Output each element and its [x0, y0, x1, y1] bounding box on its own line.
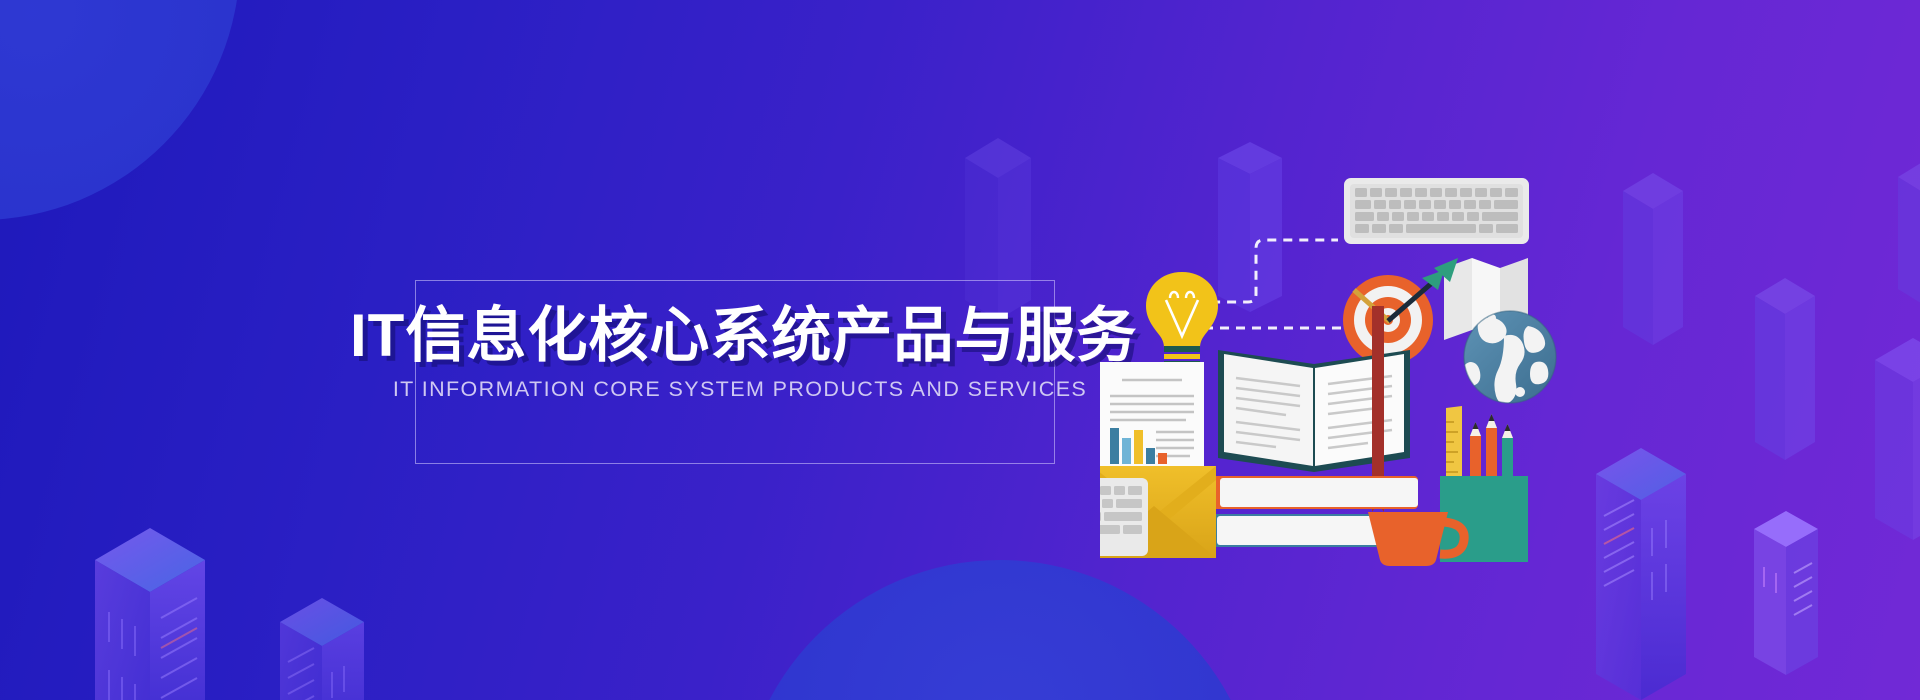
pencil-holder-icon	[1440, 406, 1528, 562]
decorative-tower-right-faint-b	[1755, 270, 1865, 460]
illustration-backdrop-tower	[1218, 142, 1282, 312]
decorative-tower-right-faint-a	[1623, 165, 1733, 345]
decorative-tower-left-large	[95, 520, 325, 700]
decorative-tower-right-tall	[1596, 440, 1766, 700]
decorative-tower-right-small	[1754, 505, 1874, 675]
decorative-tower-left-small	[280, 590, 455, 700]
page-subtitle: IT INFORMATION CORE SYSTEM PRODUCTS AND …	[350, 377, 1130, 402]
hero-banner: IT信息化核心系统产品与服务 IT INFORMATION CORE SYSTE…	[0, 0, 1920, 700]
page-title: IT信息化核心系统产品与服务	[350, 305, 1130, 367]
decorative-tower-right-edge-top	[1898, 155, 1920, 305]
keyboard-left	[1100, 478, 1148, 556]
keyboard-top	[1344, 178, 1529, 244]
target-with-arrow-icon	[1343, 258, 1458, 365]
decorative-circle-top-left	[0, 0, 240, 220]
globe-icon	[1462, 311, 1556, 404]
headline-block: IT信息化核心系统产品与服务 IT INFORMATION CORE SYSTE…	[350, 305, 1130, 402]
decorative-tower-right-edge	[1875, 330, 1920, 540]
it-knowledge-illustration	[1100, 140, 1560, 610]
